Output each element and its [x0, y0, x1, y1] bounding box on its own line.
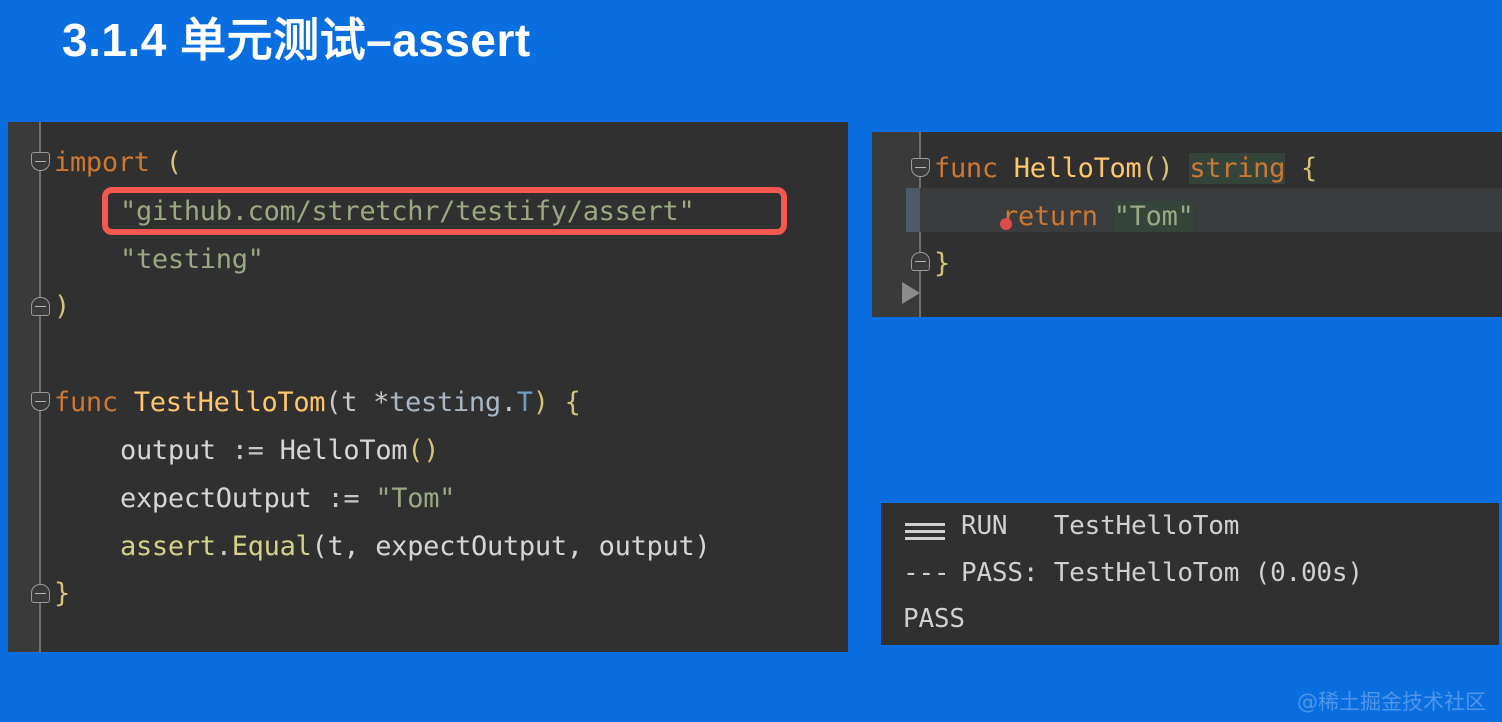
pkg-assert: assert	[120, 531, 216, 562]
var-expectoutput: expectOutput	[120, 483, 311, 514]
code-line-3: "testing"	[120, 245, 264, 275]
dot-1: .	[501, 387, 517, 418]
breakpoint-icon[interactable]	[1000, 218, 1012, 230]
fold-marker-func[interactable]	[31, 392, 50, 411]
fold-marker-import-end[interactable]	[31, 297, 50, 316]
output-line-run: RUN TestHelloTom	[961, 511, 1239, 541]
type-T: T	[517, 387, 533, 418]
code-line-4: )	[54, 292, 70, 322]
code-line-2: "github.com/stretchr/testify/assert"	[120, 197, 694, 227]
method-equal: Equal	[232, 531, 312, 562]
fold-marker-func-end[interactable]	[31, 584, 50, 603]
slide-root: 3.1.4 单元测试–assert import ( "github.com/s…	[0, 0, 1502, 722]
fold-marker-hellotom[interactable]	[911, 158, 930, 177]
code-line-1: import (	[54, 148, 182, 178]
brace-open-right: {	[1301, 153, 1317, 184]
string-tom-right-selected: "Tom"	[1114, 201, 1194, 232]
func-sig-close: ) {	[533, 387, 581, 418]
output-line-pass-detail: PASS: TestHelloTom (0.00s)	[961, 558, 1363, 588]
dot-2: .	[216, 531, 232, 562]
code-line-7: output := HelloTom()	[120, 436, 439, 466]
brace-close-left: }	[54, 578, 70, 609]
code-line-10: }	[54, 579, 70, 609]
right-code-line-1: func HelloTom() string {	[934, 154, 1317, 184]
code-line-6: func TestHelloTom(t *testing.T) {	[54, 388, 581, 418]
right-code-line-2: return "Tom"	[1002, 202, 1193, 232]
test-output-panel[interactable]: RUN TestHelloTom --- PASS: TestHelloTom …	[878, 500, 1502, 648]
string-tom-left: "Tom"	[375, 483, 455, 514]
code-line-9: assert.Equal(t, expectOutput, output)	[120, 532, 710, 562]
call-hellotom: HelloTom	[280, 435, 408, 466]
import-path-testify: "github.com/stretchr/testify/assert"	[120, 196, 694, 227]
gutter-change-marker	[906, 188, 920, 232]
left-editor-gutter	[8, 122, 40, 652]
code-line-8: expectOutput := "Tom"	[120, 484, 455, 514]
call-parens-1: ()	[407, 435, 439, 466]
pkg-testing: testing	[389, 387, 501, 418]
output-line-pass: PASS	[903, 604, 965, 634]
left-editor-indent-guide	[39, 122, 41, 652]
right-code-line-3: }	[934, 249, 950, 279]
page-title: 3.1.4 单元测试–assert	[62, 6, 531, 74]
func-sig-open: (t *	[325, 387, 389, 418]
brace-close-right: }	[934, 248, 950, 279]
func-name-hellotom: HelloTom	[1014, 153, 1142, 184]
paren-close: )	[54, 291, 70, 322]
keyword-return: return	[1002, 201, 1098, 232]
right-code-editor[interactable]: func HelloTom() string { return "Tom" }	[872, 128, 1502, 317]
keyword-func: func	[54, 387, 118, 418]
keyword-import: import	[54, 147, 150, 178]
paren-open: (	[166, 147, 182, 178]
fold-marker-import[interactable]	[31, 152, 50, 171]
left-code-editor[interactable]: import ( "github.com/stretchr/testify/as…	[8, 122, 848, 652]
call-parens-2: ()	[1141, 153, 1173, 184]
fold-marker-hellotom-end[interactable]	[911, 252, 930, 271]
watermark: @稀土掘金技术社区	[1297, 686, 1486, 716]
run-test-arrow-icon[interactable]	[902, 282, 920, 304]
import-path-testing: "testing"	[120, 244, 264, 275]
type-string-selected: string	[1189, 153, 1285, 184]
assign-op-2: :=	[327, 483, 359, 514]
var-output: output	[120, 435, 216, 466]
keyword-func-right: func	[934, 153, 998, 184]
assign-op-1: :=	[232, 435, 264, 466]
assert-args: (t, expectOutput, output)	[311, 531, 710, 562]
equals-prefix-icon	[905, 523, 945, 541]
output-line-pass-detail-prefix: ---	[903, 558, 949, 588]
func-name-testhellotom: TestHelloTom	[134, 387, 325, 418]
